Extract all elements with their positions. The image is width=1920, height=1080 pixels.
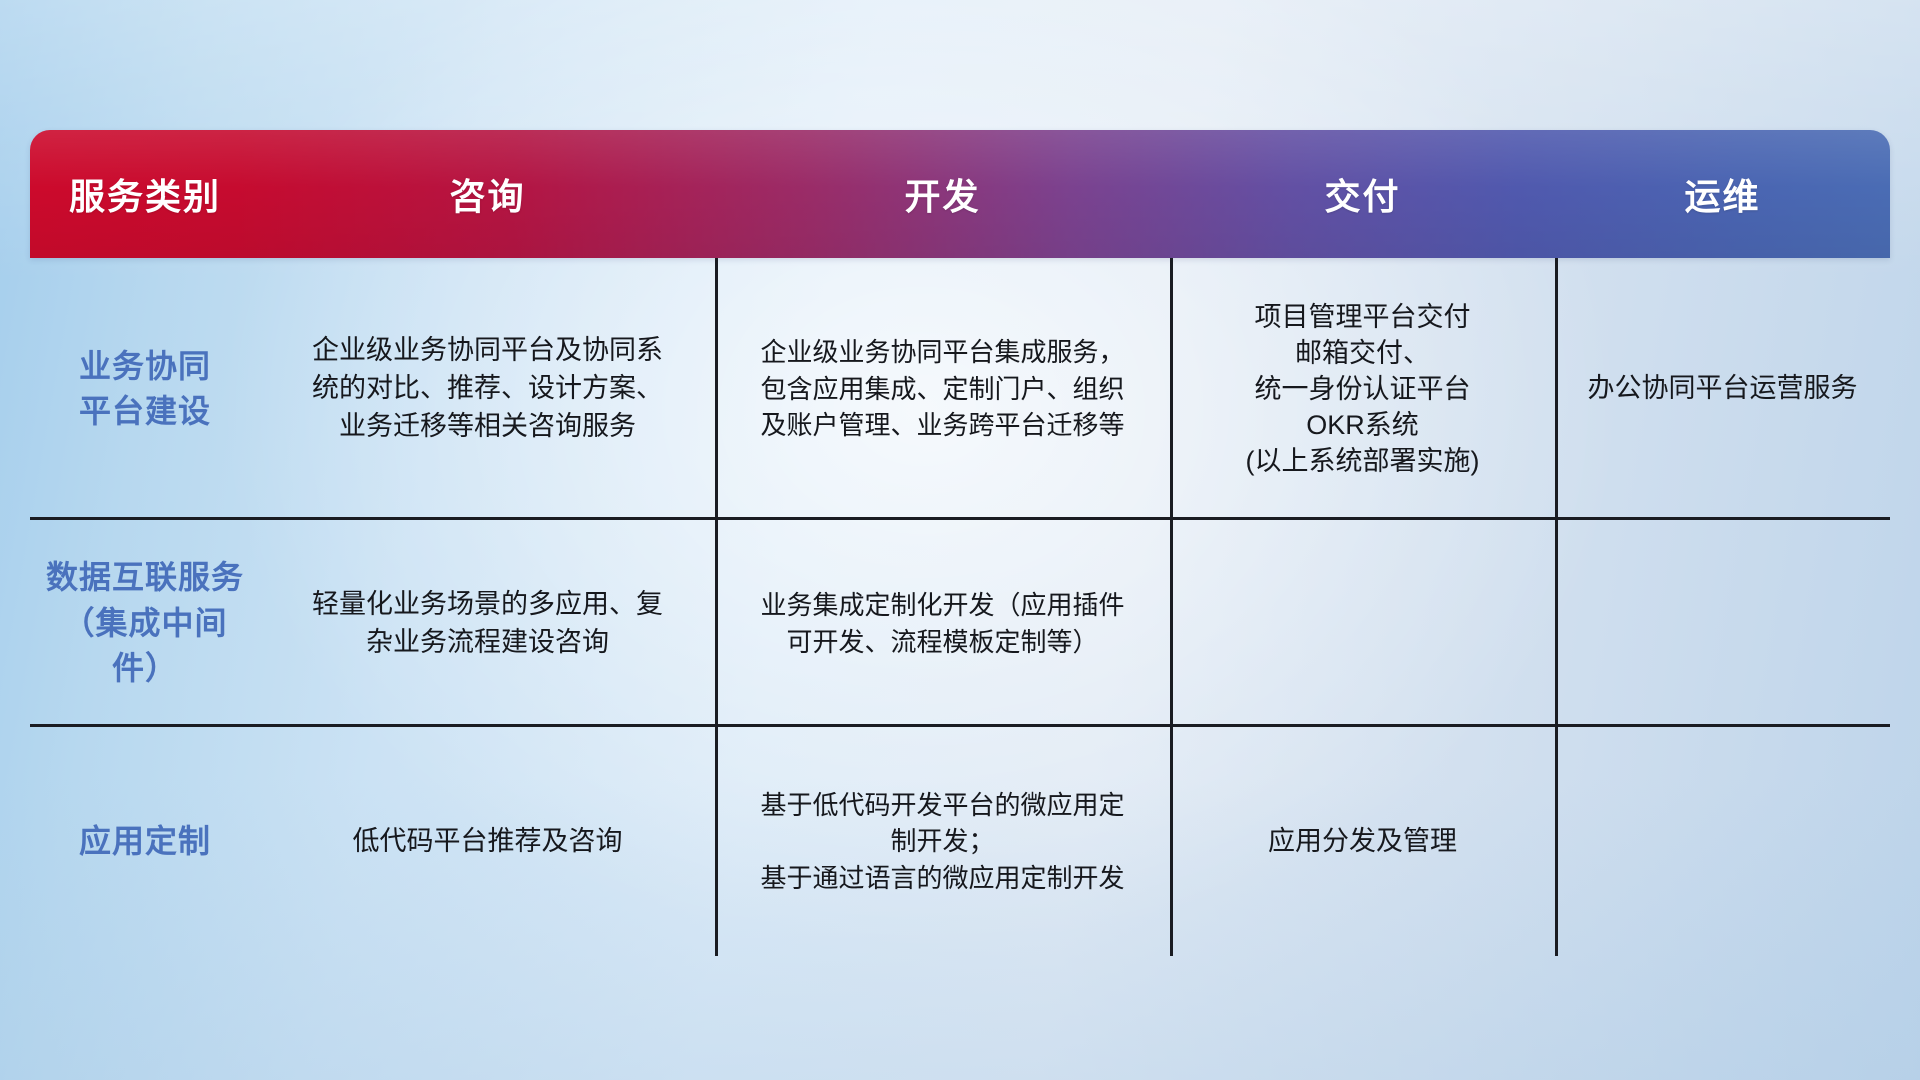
table-header-row: 服务类别 咨询 开发 交付 运维 [30,130,1890,258]
cell-text: 企业级业务协同平台及协同系 统的对比、推荐、设计方案、 业务迁移等相关咨询服务 [312,332,663,445]
cell-delivery-row1: 项目管理平台交付 邮箱交付、 统一身份认证平台 OKR系统 (以上系统部署实施) [1170,258,1555,520]
cell-text: 应用分发及管理 [1268,823,1457,861]
cell-development-row1: 企业级业务协同平台集成服务， 包含应用集成、定制门户、组织 及账户管理、业务跨平… [715,258,1170,520]
table-row: 数据互联服务 （集成中间件） 轻量化业务场景的多应用、复 杂业务流程建设咨询 业… [30,520,1890,727]
table-row: 业务协同 平台建设 企业级业务协同平台及协同系 统的对比、推荐、设计方案、 业务… [30,258,1890,520]
cell-text: 业务集成定制化开发（应用插件 可开发、流程模板定制等） [760,587,1124,660]
row-label-text: 业务协同 平台建设 [79,344,211,435]
column-header-consulting: 咨询 [260,168,715,220]
row-label-cell-business-collaboration: 业务协同 平台建设 [30,258,260,520]
cell-operations-row2 [1555,520,1890,727]
service-matrix-table: 服务类别 咨询 开发 交付 运维 业务协同 平台建设 企业级业务协同平台及协同系… [30,130,1890,956]
table-row: 应用定制 低代码平台推荐及咨询 基于低代码开发平台的微应用定 制开发； 基于通过… [30,727,1890,956]
cell-consulting-row1: 企业级业务协同平台及协同系 统的对比、推荐、设计方案、 业务迁移等相关咨询服务 [260,258,715,520]
cell-text: 办公协同平台运营服务 [1588,370,1858,408]
column-header-development: 开发 [715,168,1170,220]
row-label-cell-app-customization: 应用定制 [30,727,260,956]
cell-operations-row1: 办公协同平台运营服务 [1555,258,1890,520]
column-header-category: 服务类别 [30,168,260,220]
row-label-text: 应用定制 [79,819,211,864]
column-header-operations: 运维 [1555,168,1890,220]
cell-text: 企业级业务协同平台集成服务， 包含应用集成、定制门户、组织 及账户管理、业务跨平… [760,334,1124,443]
cell-development-row2: 业务集成定制化开发（应用插件 可开发、流程模板定制等） [715,520,1170,727]
column-header-delivery: 交付 [1170,168,1555,220]
cell-text: 项目管理平台交付 邮箱交付、 统一身份认证平台 OKR系统 (以上系统部署实施) [1246,299,1480,480]
cell-text: 低代码平台推荐及咨询 [353,823,623,861]
row-label-cell-data-interconnect: 数据互联服务 （集成中间件） [30,520,260,727]
cell-delivery-row3: 应用分发及管理 [1170,727,1555,956]
cell-delivery-row2 [1170,520,1555,727]
cell-consulting-row2: 轻量化业务场景的多应用、复 杂业务流程建设咨询 [260,520,715,727]
cell-consulting-row3: 低代码平台推荐及咨询 [260,727,715,956]
cell-operations-row3 [1555,727,1890,956]
table-body: 业务协同 平台建设 企业级业务协同平台及协同系 统的对比、推荐、设计方案、 业务… [30,258,1890,956]
cell-development-row3: 基于低代码开发平台的微应用定 制开发； 基于通过语言的微应用定制开发 [715,727,1170,956]
row-label-text: 数据互联服务 （集成中间件） [44,555,246,691]
cell-text: 轻量化业务场景的多应用、复 杂业务流程建设咨询 [312,586,663,662]
cell-text: 基于低代码开发平台的微应用定 制开发； 基于通过语言的微应用定制开发 [760,787,1124,896]
